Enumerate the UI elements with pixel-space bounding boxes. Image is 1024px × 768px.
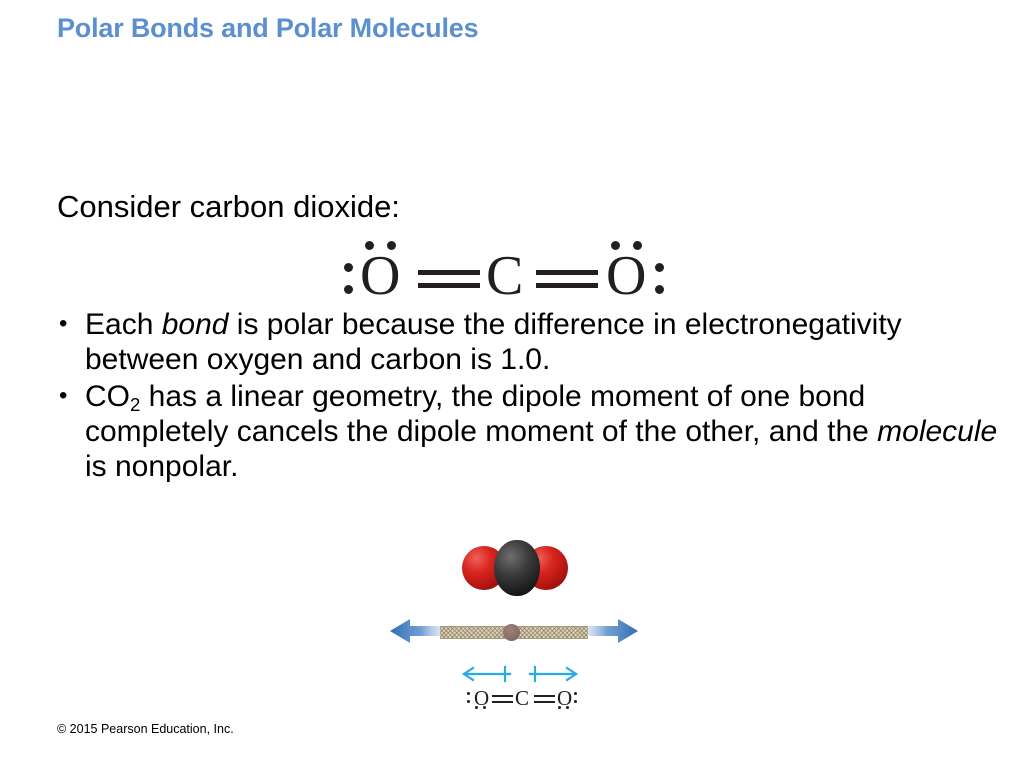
bullet-2-seg-0: CO: [85, 380, 130, 413]
bullet-marker: •: [55, 380, 85, 412]
lone-pair-dot: [475, 706, 478, 709]
bullet-1-seg-1-italic: bond: [162, 308, 229, 341]
double-bond-line: [418, 283, 480, 288]
lone-pair-dot: [467, 692, 470, 695]
double-bond-line: [536, 270, 598, 275]
dipole-lewis-atom-carbon: C: [515, 688, 529, 709]
bullet-2-subscript: 2: [130, 394, 140, 415]
lone-pair-dot: [655, 263, 664, 272]
carbon-dioxide-lewis-structure: O C O: [340, 238, 680, 310]
lone-pair-dot: [483, 706, 486, 709]
bullet-1-seg-0: Each: [85, 308, 162, 341]
body-bullet-list: • Each bond is polar because the differe…: [55, 308, 1005, 487]
double-bond-line: [492, 701, 513, 703]
balance-pivot: [503, 624, 520, 641]
bullet-text-2: CO2 has a linear geometry, the dipole mo…: [85, 380, 1005, 485]
lone-pair-dot: [611, 241, 620, 250]
lone-pair-dot: [574, 700, 577, 703]
bullet-2-seg-2: has a linear geometry, the dipole moment…: [85, 380, 877, 449]
lone-pair-dot: [655, 285, 664, 294]
lone-pair-dot: [558, 706, 561, 709]
double-bond-line: [492, 695, 513, 697]
lone-pair-dot: [344, 263, 353, 272]
lone-pair-dot: [387, 241, 396, 250]
page-title: Polar Bonds and Polar Molecules: [57, 14, 957, 44]
bullet-2-seg-3-italic: molecule: [877, 415, 997, 448]
list-item: • Each bond is polar because the differe…: [55, 308, 1005, 378]
lone-pair-dot: [633, 241, 642, 250]
lone-pair-dot: [344, 285, 353, 294]
intro-text: Consider carbon dioxide:: [57, 189, 400, 226]
lewis-atom-oxygen-left: O: [360, 248, 400, 304]
dipole-moment-vectors: O C O: [452, 662, 588, 714]
bullet-2-seg-4: is nonpolar.: [85, 450, 238, 483]
dipole-arrows-svg: [452, 662, 588, 686]
lone-pair-dot: [566, 706, 569, 709]
lone-pair-dot: [365, 241, 374, 250]
double-bond-line: [536, 283, 598, 288]
lone-pair-dot: [574, 692, 577, 695]
bullet-text-1: Each bond is polar because the differenc…: [85, 308, 1005, 378]
carbon-dioxide-space-filling-model: [462, 538, 574, 596]
lewis-atom-oxygen-right: O: [606, 248, 646, 304]
dipole-cancellation-balance: [388, 616, 640, 646]
lone-pair-dot: [467, 700, 470, 703]
bullet-marker: •: [55, 308, 85, 340]
lewis-atom-carbon: C: [486, 248, 523, 304]
copyright-footer: © 2015 Pearson Education, Inc.: [57, 722, 234, 736]
list-item: • CO2 has a linear geometry, the dipole …: [55, 380, 1005, 485]
double-bond-line: [534, 695, 555, 697]
double-bond-line: [534, 701, 555, 703]
carbon-sphere: [494, 540, 540, 596]
double-bond-line: [418, 270, 480, 275]
